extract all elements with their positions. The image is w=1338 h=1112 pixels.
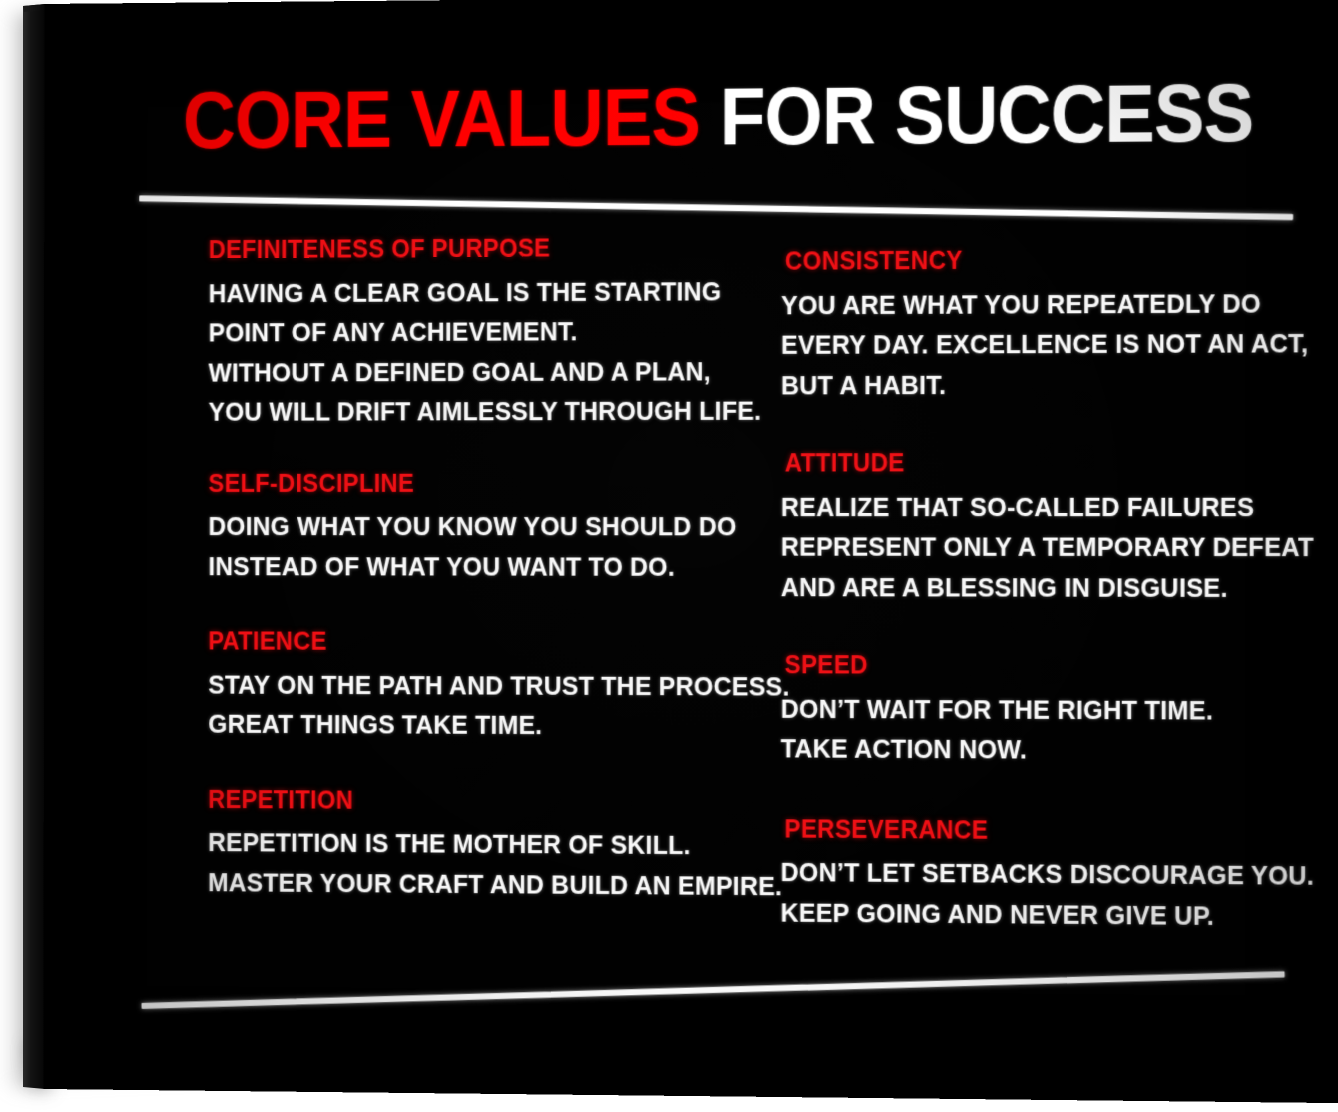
canvas-face-perspective: CORE VALUES FOR SUCCESS DEFINITENESS OF … xyxy=(0,0,1338,1112)
value-block: PATIENCESTAY ON THE PATH AND TRUST THE P… xyxy=(208,626,730,746)
value-line: WITHOUT A DEFINED GOAL AND A PLAN, xyxy=(209,352,704,393)
value-line: STAY ON THE PATH AND TRUST THE PROCESS. xyxy=(208,665,703,706)
value-line: INSTEAD OF WHAT YOU WANT TO DO. xyxy=(208,547,703,587)
values-column-right: CONSISTENCYYOU ARE WHAT YOU REPEATEDLY D… xyxy=(780,244,1241,965)
values-column-left: DEFINITENESS OF PURPOSEHAVING A CLEAR GO… xyxy=(208,232,730,934)
value-line: HAVING A CLEAR GOAL IS THE STARTING xyxy=(209,272,704,314)
value-line: AND ARE A BLESSING IN DISGUISE. xyxy=(781,567,1218,608)
title-for-success: FOR SUCCESS xyxy=(720,67,1253,161)
value-heading: REPETITION xyxy=(208,784,703,817)
value-block: DEFINITENESS OF PURPOSEHAVING A CLEAR GO… xyxy=(209,232,731,432)
value-block: ATTITUDEREALIZE THAT SO-CALLED FAILURESR… xyxy=(781,448,1242,609)
value-line: EVERY DAY. EXCELLENCE IS NOT AN ACT, xyxy=(781,324,1218,366)
value-line: MASTER YOUR CRAFT AND BUILD AN EMPIRE. xyxy=(208,863,703,906)
value-block: CONSISTENCYYOU ARE WHAT YOU REPEATEDLY D… xyxy=(781,244,1242,405)
value-heading: SELF-DISCIPLINE xyxy=(208,468,703,499)
value-line: DON’T WAIT FOR THE RIGHT TIME. xyxy=(781,689,1218,731)
canvas-face: CORE VALUES FOR SUCCESS DEFINITENESS OF … xyxy=(44,0,1338,1103)
value-heading: CONSISTENCY xyxy=(781,244,1218,277)
value-line: BUT A HABIT. xyxy=(781,364,1218,405)
value-heading: PATIENCE xyxy=(208,626,703,658)
value-line: YOU ARE WHAT YOU REPEATEDLY DO xyxy=(781,284,1218,326)
value-line: REPETITION IS THE MOTHER OF SKILL. xyxy=(208,823,703,866)
value-line: REALIZE THAT SO-CALLED FAILURES xyxy=(781,487,1218,527)
value-heading: SPEED xyxy=(781,650,1218,682)
value-heading: PERSEVERANCE xyxy=(781,814,1218,848)
divider-top xyxy=(139,195,1293,220)
value-heading: ATTITUDE xyxy=(781,448,1218,479)
value-line: TAKE ACTION NOW. xyxy=(781,729,1218,771)
value-block: REPETITIONREPETITION IS THE MOTHER OF SK… xyxy=(208,784,730,906)
value-line: POINT OF ANY ACHIEVEMENT. xyxy=(209,312,704,353)
value-line: GREAT THINGS TAKE TIME. xyxy=(208,705,703,747)
divider-bottom xyxy=(141,971,1284,1009)
value-line: KEEP GOING AND NEVER GIVE UP. xyxy=(780,893,1217,936)
value-block: SPEEDDON’T WAIT FOR THE RIGHT TIME.TAKE … xyxy=(781,650,1242,771)
value-block: PERSEVERANCEDON’T LET SETBACKS DISCOURAG… xyxy=(780,814,1241,937)
canvas-print-stage: CORE VALUES FOR SUCCESS DEFINITENESS OF … xyxy=(0,0,1338,1112)
value-line: YOU WILL DRIFT AIMLESSLY THROUGH LIFE. xyxy=(209,392,704,433)
value-heading: DEFINITENESS OF PURPOSE xyxy=(209,233,704,266)
value-line: REPRESENT ONLY A TEMPORARY DEFEAT xyxy=(781,527,1218,568)
title-core-values: CORE VALUES xyxy=(183,72,700,165)
value-line: DON’T LET SETBACKS DISCOURAGE YOU. xyxy=(780,853,1217,896)
page-title: CORE VALUES FOR SUCCESS xyxy=(183,73,1207,161)
value-line: DOING WHAT YOU KNOW YOU SHOULD DO xyxy=(208,507,703,547)
value-block: SELF-DISCIPLINEDOING WHAT YOU KNOW YOU S… xyxy=(208,468,730,587)
